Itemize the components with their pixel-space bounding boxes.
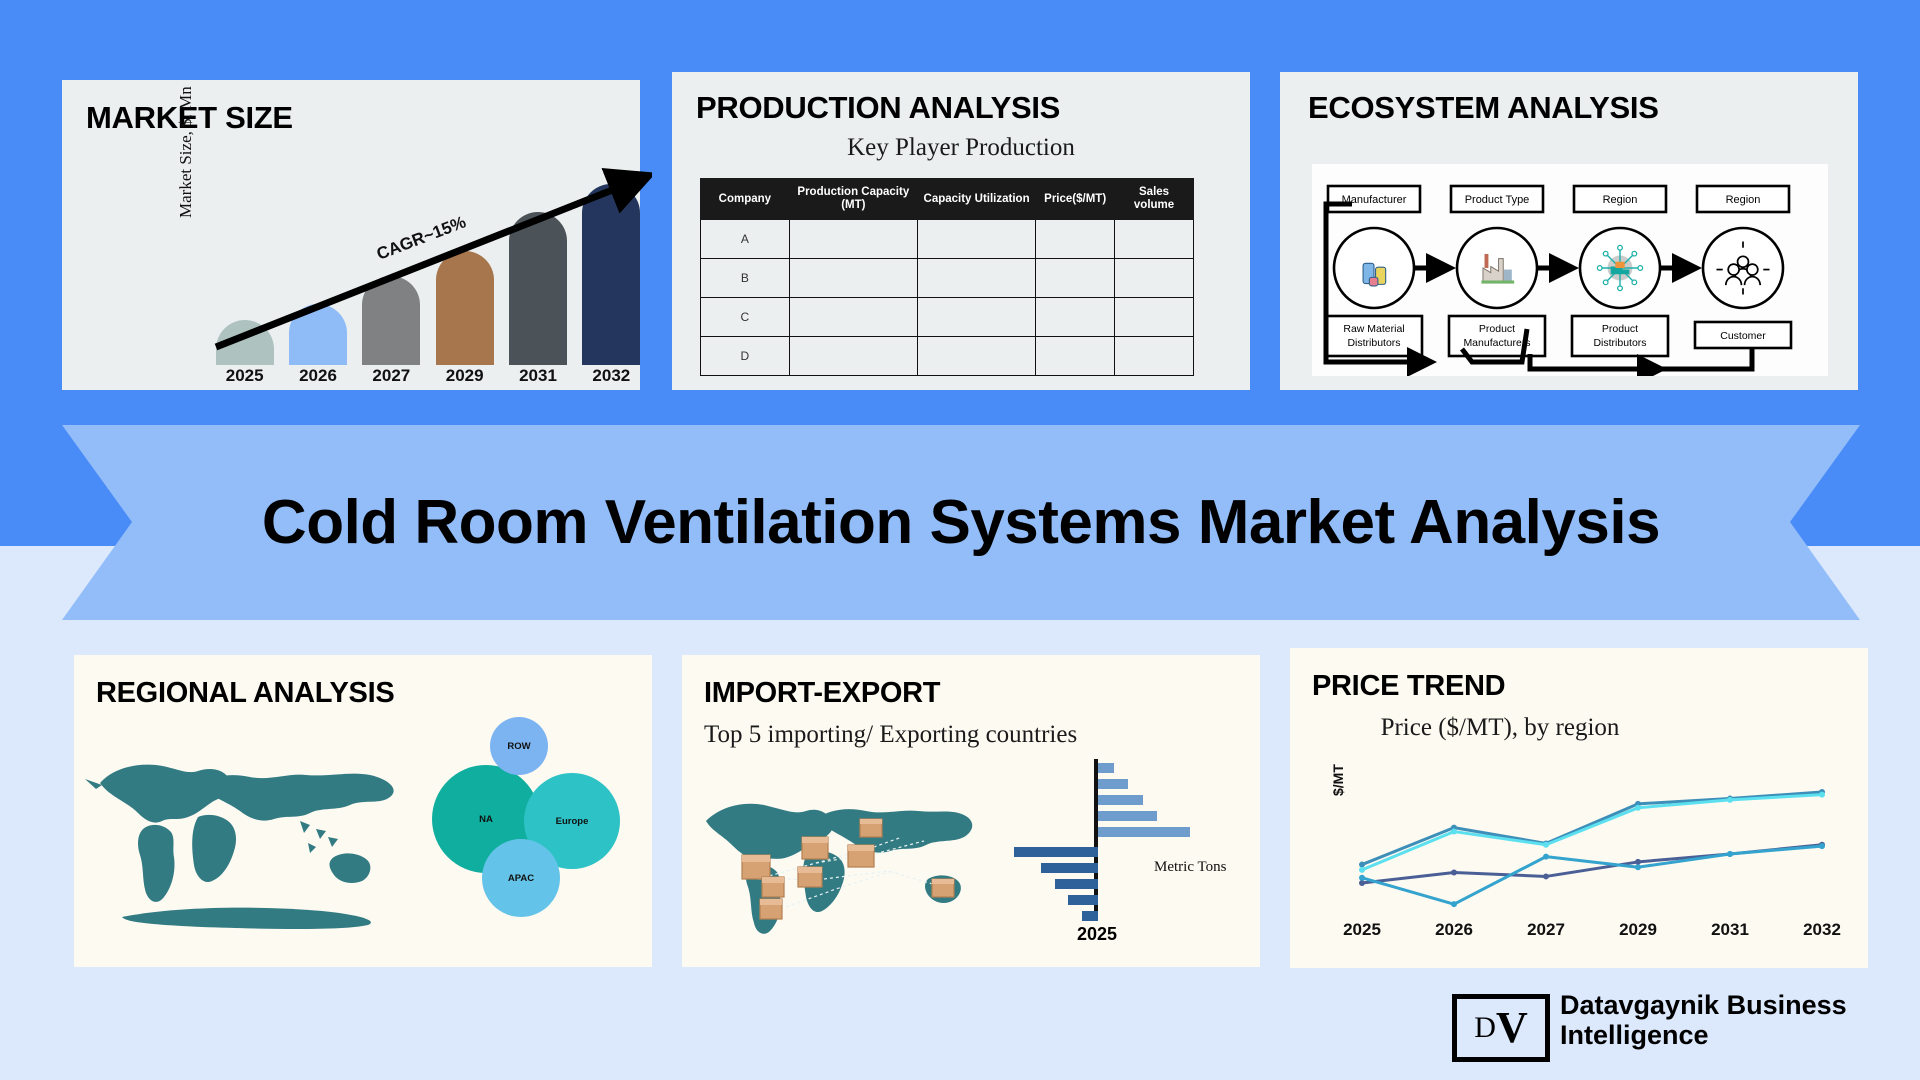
- table-cell: [789, 337, 917, 376]
- table-cell: [1036, 337, 1115, 376]
- table-cell: [1115, 298, 1194, 337]
- region-bubble: APAC: [482, 839, 560, 917]
- import-export-title: IMPORT-EXPORT: [704, 677, 940, 710]
- ecosystem-top-box: Region: [1697, 186, 1789, 212]
- table-cell: [789, 259, 917, 298]
- price-trend-year-label: 2025: [1327, 920, 1397, 940]
- table-cell: D: [701, 337, 790, 376]
- ecosystem-bottom-box: Customer: [1695, 322, 1791, 348]
- price-trend-data-point: [1451, 829, 1457, 835]
- ecosystem-bottom-box-label: Product: [1602, 323, 1638, 335]
- price-trend-data-point: [1819, 843, 1825, 849]
- table-row: C: [701, 298, 1194, 337]
- price-trend-data-point: [1451, 869, 1457, 875]
- price-trend-series-line: [1362, 792, 1822, 865]
- table-column-header: Price($/MT): [1036, 179, 1115, 220]
- production-analysis-card: PRODUCTION ANALYSIS Key Player Productio…: [672, 72, 1250, 390]
- customers-icon: [1703, 228, 1783, 308]
- ecosystem-analysis-card: ECOSYSTEM ANALYSIS ManufacturerProduct T…: [1280, 72, 1858, 390]
- export-bar: [1055, 879, 1098, 889]
- market-size-bar: [436, 251, 494, 365]
- market-size-x-axis-labels: 202520262027202920312032: [208, 366, 648, 390]
- table-header-row: CompanyProduction Capacity (MT)Capacity …: [701, 179, 1194, 220]
- regional-analysis-title: REGIONAL ANALYSIS: [96, 677, 394, 710]
- import-bar: [1098, 779, 1128, 789]
- ecosystem-bottom-box-label: Distributors: [1347, 337, 1400, 349]
- table-cell: [1115, 259, 1194, 298]
- brand-logo: DV Datavgaynik Business Intelligence: [1452, 990, 1872, 1068]
- ecosystem-analysis-title: ECOSYSTEM ANALYSIS: [1308, 90, 1659, 126]
- table-row: B: [701, 259, 1194, 298]
- table-row: A: [701, 220, 1194, 259]
- price-trend-line-chart: [1346, 776, 1846, 916]
- tornado-year-label: 2025: [1062, 924, 1132, 945]
- table-column-header: Sales volume: [1115, 179, 1194, 220]
- distribution-network-icon: [1580, 228, 1660, 308]
- table-cell: [1115, 220, 1194, 259]
- table-column-header: Capacity Utilization: [917, 179, 1035, 220]
- table-body: ABCD: [701, 220, 1194, 376]
- price-trend-data-point: [1727, 797, 1733, 803]
- export-bar: [1082, 911, 1098, 921]
- price-trend-data-point: [1451, 901, 1457, 907]
- import-bar: [1098, 795, 1143, 805]
- price-trend-subtitle: Price ($/MT), by region: [1350, 712, 1650, 743]
- table-cell: [917, 220, 1035, 259]
- logo-name-line2: Intelligence: [1560, 1020, 1872, 1050]
- price-trend-data-point: [1359, 875, 1365, 881]
- table-cell: [1036, 298, 1115, 337]
- production-analysis-title: PRODUCTION ANALYSIS: [696, 90, 1060, 126]
- import-bar: [1098, 827, 1190, 837]
- region-bubble: ROW: [490, 717, 548, 775]
- import-export-tornado-chart: Metric Tons 2025: [1012, 759, 1242, 949]
- world-map-icon: [82, 725, 428, 935]
- infographic-canvas: MARKET SIZE Market Size, $, Mn CAGR~15% …: [0, 0, 1920, 1080]
- ecosystem-top-box-label: Product Type: [1465, 194, 1530, 206]
- ecosystem-bottom-box-label: Distributors: [1593, 337, 1646, 349]
- regional-bubble-chart: NAEuropeROWAPAC: [432, 717, 632, 937]
- ecosystem-bottom-box: ProductDistributors: [1572, 316, 1668, 356]
- import-bar: [1098, 811, 1157, 821]
- logo-name-line1: Datavgaynik Business: [1560, 990, 1872, 1020]
- market-size-bar: [509, 212, 567, 365]
- export-bar: [1014, 847, 1098, 857]
- table-cell: [917, 259, 1035, 298]
- price-trend-year-label: 2032: [1787, 920, 1857, 940]
- price-trend-data-point: [1543, 854, 1549, 860]
- production-analysis-subtitle: Key Player Production: [672, 134, 1250, 162]
- table-column-header: Production Capacity (MT): [789, 179, 917, 220]
- price-trend-data-point: [1543, 873, 1549, 879]
- table-row: D: [701, 337, 1194, 376]
- ecosystem-top-box: Product Type: [1451, 186, 1543, 212]
- market-size-year-label: 2032: [582, 366, 640, 386]
- ecosystem-bottom-box-label: Product: [1479, 323, 1515, 335]
- market-size-bar: [362, 276, 420, 365]
- market-size-year-label: 2026: [289, 366, 347, 386]
- import-export-card: IMPORT-EXPORT Top 5 importing/ Exporting…: [682, 655, 1260, 967]
- logo-letter-v: V: [1496, 1006, 1528, 1050]
- ecosystem-bottom-box-label: Manufacturers: [1463, 337, 1530, 349]
- barrels-icon: [1334, 228, 1414, 308]
- import-bar: [1098, 763, 1114, 773]
- price-trend-card: PRICE TREND Price ($/MT), by region $/MT…: [1290, 648, 1868, 968]
- main-title: Cold Room Ventilation Systems Market Ana…: [62, 425, 1860, 620]
- market-size-card: MARKET SIZE Market Size, $, Mn CAGR~15% …: [62, 80, 640, 390]
- ecosystem-top-box-label: Region: [1603, 194, 1638, 206]
- market-size-bar: [289, 304, 347, 365]
- ecosystem-flow-svg: ManufacturerProduct TypeRegionRegion Raw…: [1312, 164, 1828, 376]
- logo-letter-d: D: [1474, 1013, 1496, 1043]
- price-trend-year-label: 2027: [1511, 920, 1581, 940]
- table-cell: C: [701, 298, 790, 337]
- market-size-year-label: 2031: [509, 366, 567, 386]
- logo-mark-icon: DV: [1452, 994, 1550, 1062]
- key-player-production-table: CompanyProduction Capacity (MT)Capacity …: [700, 178, 1194, 376]
- trade-flow-map-icon: [696, 767, 996, 937]
- ecosystem-bottom-box-label: Raw Material: [1343, 323, 1404, 335]
- table-cell: [917, 298, 1035, 337]
- ecosystem-diagram: ManufacturerProduct TypeRegionRegion Raw…: [1312, 164, 1828, 376]
- table-cell: [1036, 259, 1115, 298]
- price-trend-year-label: 2031: [1695, 920, 1765, 940]
- import-export-subtitle: Top 5 importing/ Exporting countries: [704, 721, 1204, 749]
- market-size-bar: [582, 184, 640, 365]
- price-trend-series-line: [1362, 795, 1822, 870]
- table-cell: [789, 298, 917, 337]
- ecosystem-bottom-box-label: Customer: [1720, 330, 1766, 342]
- ecosystem-top-box-label: Region: [1726, 194, 1761, 206]
- export-bar: [1068, 895, 1098, 905]
- price-trend-y-axis-label: $/MT: [1330, 764, 1346, 796]
- table-cell: [1036, 220, 1115, 259]
- table-cell: B: [701, 259, 790, 298]
- price-trend-data-point: [1635, 864, 1641, 870]
- table-cell: [1115, 337, 1194, 376]
- price-trend-year-label: 2029: [1603, 920, 1673, 940]
- market-size-year-label: 2029: [436, 366, 494, 386]
- price-trend-data-point: [1359, 867, 1365, 873]
- export-bar: [1041, 863, 1098, 873]
- price-trend-data-point: [1819, 792, 1825, 798]
- factory-icon: [1457, 228, 1537, 308]
- price-trend-series-line: [1362, 845, 1822, 883]
- price-trend-data-point: [1359, 862, 1365, 868]
- price-trend-title: PRICE TREND: [1312, 670, 1505, 703]
- table-cell: [917, 337, 1035, 376]
- price-trend-data-point: [1635, 859, 1641, 865]
- market-size-year-label: 2027: [362, 366, 420, 386]
- logo-wordmark: Datavgaynik Business Intelligence: [1560, 990, 1872, 1050]
- ecosystem-bottom-box: Raw MaterialDistributors: [1326, 316, 1422, 356]
- regional-analysis-card: REGIONAL ANALYSIS NAEuropeROWAPAC: [74, 655, 652, 967]
- price-trend-data-point: [1635, 805, 1641, 811]
- price-trend-data-point: [1543, 842, 1549, 848]
- ecosystem-top-box: Manufacturer: [1328, 186, 1420, 212]
- table-cell: [789, 220, 917, 259]
- market-size-bar: [216, 320, 274, 365]
- table-cell: A: [701, 220, 790, 259]
- price-trend-data-point: [1727, 851, 1733, 857]
- ecosystem-top-box: Region: [1574, 186, 1666, 212]
- market-size-y-axis-label: Market Size, $, Mn: [176, 86, 196, 218]
- table-column-header: Company: [701, 179, 790, 220]
- market-size-year-label: 2025: [216, 366, 274, 386]
- metric-tons-label: Metric Tons: [1154, 859, 1226, 876]
- market-size-bars: [208, 170, 648, 365]
- price-trend-data-point: [1359, 880, 1365, 886]
- price-trend-year-label: 2026: [1419, 920, 1489, 940]
